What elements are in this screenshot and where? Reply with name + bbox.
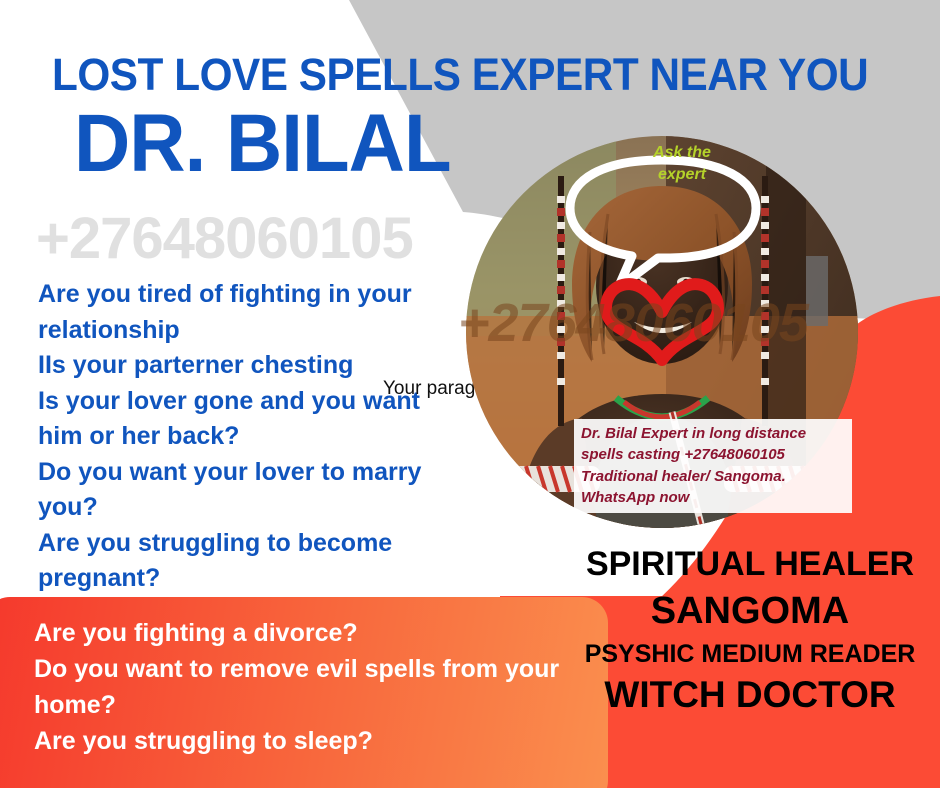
phone-number-ghost: +27648060105 (36, 210, 413, 268)
blue-question-list: Are you tired of fighting in your relati… (38, 277, 470, 597)
page-title: LOST LOVE SPELLS EXPERT NEAR YOU (52, 52, 804, 97)
list-item: Do you want to remove evil spells from y… (34, 651, 574, 723)
service-witch-doctor: WITCH DOCTOR (560, 675, 940, 715)
poster-canvas: LOST LOVE SPELLS EXPERT NEAR YOU DR. BIL… (0, 0, 940, 788)
speech-bubble-label: Ask the expert (630, 142, 734, 185)
practitioner-name: DR. BILAL (74, 103, 451, 185)
service-spiritual-healer: SPIRITUAL HEALER (560, 546, 940, 583)
service-sangoma: SANGOMA (560, 591, 940, 632)
photo-caption: Dr. Bilal Expert in long distance spells… (574, 419, 852, 513)
list-item: Do you want your lover to marry you? (38, 455, 470, 526)
list-item: Are you struggling to sleep? (34, 723, 574, 759)
list-item: Are you struggling to become pregnant? (38, 526, 470, 597)
services-list: SPIRITUAL HEALER SANGOMA PSYSHIC MEDIUM … (560, 546, 940, 715)
list-item: Are you tired of fighting in your relati… (38, 277, 470, 348)
list-item: Are you fighting a divorce? (34, 615, 574, 651)
service-psychic-medium-reader: PSYSHIC MEDIUM READER (560, 641, 940, 668)
orange-question-list: Are you fighting a divorce? Do you want … (34, 615, 574, 759)
